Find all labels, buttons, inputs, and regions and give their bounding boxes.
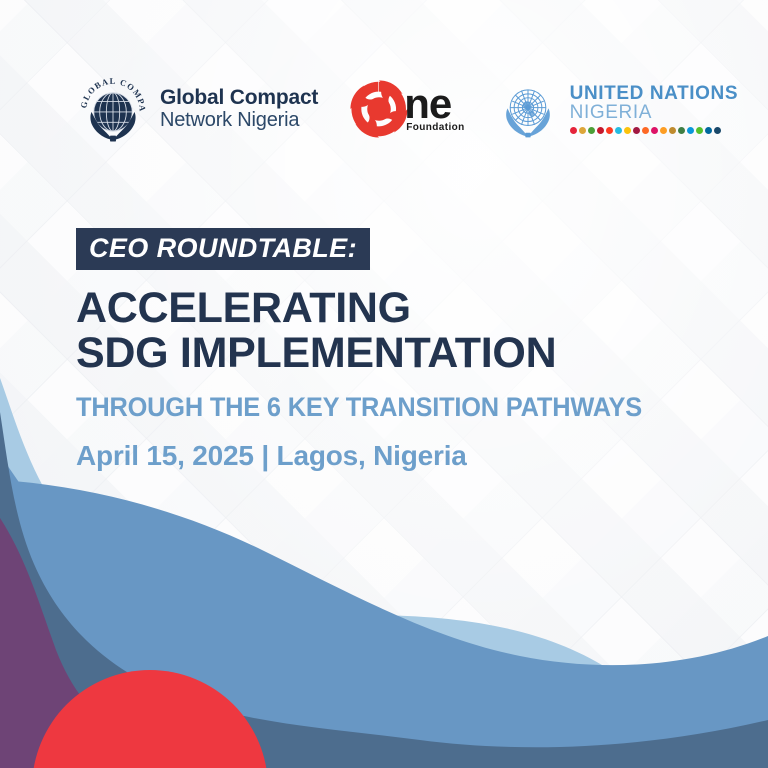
page-subtitle: THROUGH THE 6 KEY TRANSITION PATHWAYS [76, 392, 696, 423]
un-nigeria-wordmark: UNITED NATIONS NIGERIA [570, 84, 739, 134]
ceo-roundtable-badge: CEO ROUNDTABLE: [76, 228, 370, 270]
sdg-dot [606, 127, 613, 134]
sdg-dot [642, 127, 649, 134]
sdg-dot [705, 127, 712, 134]
poster-canvas: UN GLOBAL COMPACT [0, 0, 768, 768]
event-date-location: April 15, 2025 | Lagos, Nigeria [76, 440, 467, 472]
logo-one-foundation: ne Foundation [348, 78, 464, 140]
logo-united-nations-nigeria: UNITED NATIONS NIGERIA [495, 76, 739, 142]
sdg-dot [696, 127, 703, 134]
sdg-dot [615, 127, 622, 134]
sdg-dot [633, 127, 640, 134]
sdg-dot [678, 127, 685, 134]
un-global-compact-globe-laurel-icon: UN GLOBAL COMPACT [76, 72, 150, 146]
gc-line-1: Global Compact [160, 87, 318, 109]
one-foundation-circular-hands-icon [348, 78, 410, 140]
sdg-color-dots [570, 127, 739, 134]
one-foundation-sub: Foundation [406, 122, 464, 133]
sdg-dot [597, 127, 604, 134]
global-compact-wordmark: Global Compact Network Nigeria [160, 87, 318, 130]
sdg-dot [624, 127, 631, 134]
sdg-dot [660, 127, 667, 134]
un-line-1: UNITED NATIONS [570, 84, 739, 103]
sdg-dot [714, 127, 721, 134]
united-nations-emblem-icon [495, 76, 561, 142]
one-word: ne [404, 85, 464, 124]
page-title: ACCELERATING SDG IMPLEMENTATION [76, 286, 736, 375]
gc-line-2: Network Nigeria [160, 110, 318, 131]
headline-block: CEO ROUNDTABLE: ACCELERATING SDG IMPLEME… [76, 228, 736, 423]
logo-global-compact-network-nigeria: UN GLOBAL COMPACT [76, 72, 318, 146]
sdg-dot [669, 127, 676, 134]
title-line-2: SDG IMPLEMENTATION [76, 331, 736, 376]
title-line-1: ACCELERATING [76, 286, 736, 331]
logo-row: UN GLOBAL COMPACT [76, 72, 738, 146]
un-line-2: NIGERIA [570, 103, 739, 122]
one-foundation-wordmark: ne Foundation [404, 85, 464, 133]
sdg-dot [579, 127, 586, 134]
sdg-dot [687, 127, 694, 134]
sdg-dot [570, 127, 577, 134]
sdg-dot [588, 127, 595, 134]
decorative-waves [0, 368, 768, 768]
sdg-dot [651, 127, 658, 134]
